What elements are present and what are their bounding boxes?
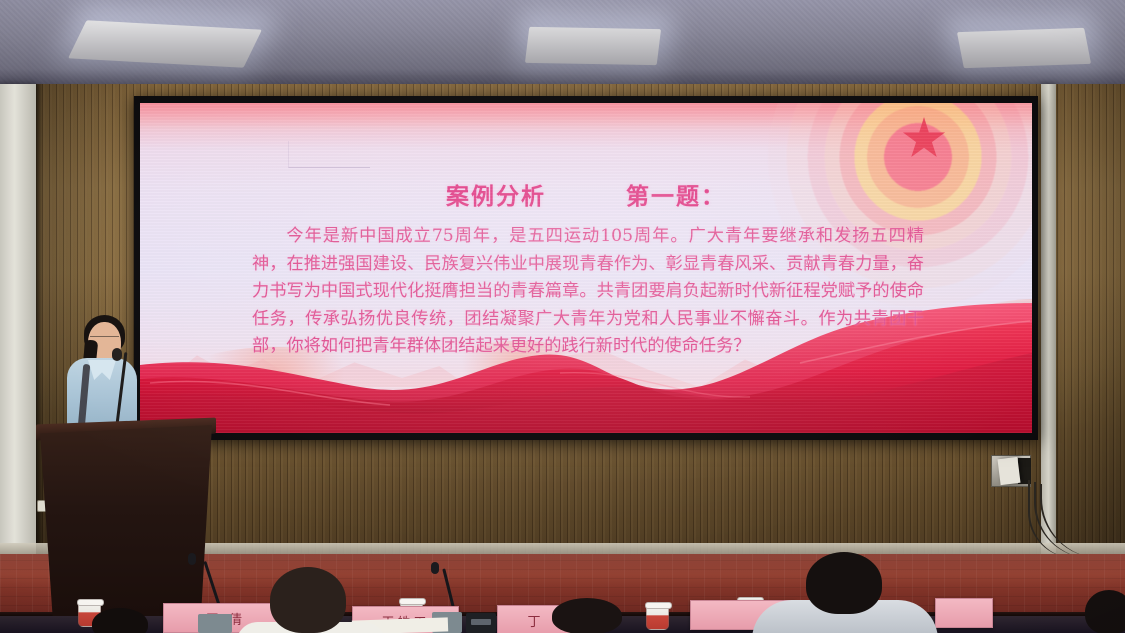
cup-lid-2 — [399, 598, 426, 605]
led-screen-display: 案例分析 第一题： 今年是新中国成立75周年，是五四运动105周年。广大青年要继… — [140, 103, 1032, 433]
table-device-unit — [466, 613, 496, 633]
audience-head-2 — [270, 567, 346, 633]
paper-cup-3 — [646, 604, 669, 630]
conference-hall-photo: 案例分析 第一题： 今年是新中国成立75周年，是五四运动105周年。广大青年要继… — [0, 0, 1125, 633]
audience-head-4 — [806, 552, 882, 614]
left-pillar — [0, 84, 36, 554]
slide-title: 案例分析 第一题： — [140, 177, 1032, 211]
table-mic-head-2 — [431, 562, 439, 574]
audience-head-3 — [552, 598, 622, 633]
podium — [40, 425, 212, 633]
cup-lid-3 — [645, 602, 672, 609]
audience-head-1 — [92, 608, 148, 633]
audience-head-5 — [1085, 590, 1125, 633]
nameplate — [935, 598, 993, 628]
mic-base-1 — [198, 614, 232, 633]
led-screen-bezel: 案例分析 第一题： 今年是新中国成立75周年，是五四运动105周年。广大青年要继… — [134, 96, 1038, 440]
slide-artifact-rectangle — [288, 141, 370, 168]
wall-box-door — [997, 457, 1020, 485]
ceiling — [0, 0, 1125, 92]
table-mic-head-1 — [188, 553, 196, 565]
slide-body-text: 今年是新中国成立75周年，是五四运动105周年。广大青年要继承和发扬五四精神，在… — [252, 223, 924, 361]
left-pillar-shadow — [36, 84, 43, 554]
podium-microphone-head — [112, 348, 122, 361]
ceiling-shading — [0, 0, 1125, 92]
cup-lid-1 — [77, 599, 104, 606]
